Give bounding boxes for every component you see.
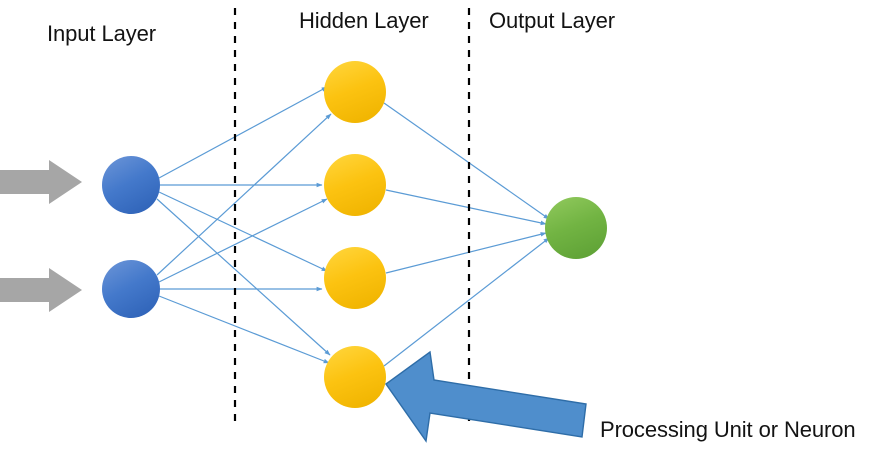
connection-h3-o1 — [386, 233, 546, 273]
input-signal-arrow-1 — [0, 160, 82, 204]
neural-network-diagram: Input Layer Hidden Layer Output Layer Pr… — [0, 0, 872, 462]
connection-i2-h1 — [157, 114, 331, 275]
connection-i1-h1 — [159, 87, 327, 178]
label-input-layer: Input Layer — [47, 21, 156, 47]
label-processing-unit-callout: Processing Unit or Neuron — [600, 417, 856, 443]
output-layer-nodes — [545, 197, 607, 259]
connection-i1-h4 — [157, 199, 330, 355]
output-node-1[interactable] — [545, 197, 607, 259]
hidden-node-3[interactable] — [324, 247, 386, 309]
input-signal-arrow-2 — [0, 268, 82, 312]
connection-h2-o1 — [386, 190, 546, 224]
hidden-layer-nodes — [324, 61, 386, 408]
input-node-1[interactable] — [102, 156, 160, 214]
diagram-canvas — [0, 0, 872, 462]
connection-h4-o1 — [384, 238, 549, 366]
connection-i2-h4 — [159, 296, 329, 363]
input-layer-nodes — [102, 156, 160, 318]
hidden-node-1[interactable] — [324, 61, 386, 123]
input-signal-arrows — [0, 160, 82, 312]
hidden-node-2[interactable] — [324, 154, 386, 216]
connections-hidden-to-output — [384, 103, 549, 366]
hidden-node-4[interactable] — [324, 346, 386, 408]
connections-input-to-hidden — [157, 87, 331, 363]
connection-i1-h3 — [159, 192, 327, 271]
processing-unit-callout-arrow — [386, 352, 586, 441]
label-output-layer: Output Layer — [489, 8, 615, 34]
input-node-2[interactable] — [102, 260, 160, 318]
connection-i2-h2 — [159, 199, 327, 282]
connection-h1-o1 — [384, 103, 549, 219]
label-hidden-layer: Hidden Layer — [299, 8, 429, 34]
